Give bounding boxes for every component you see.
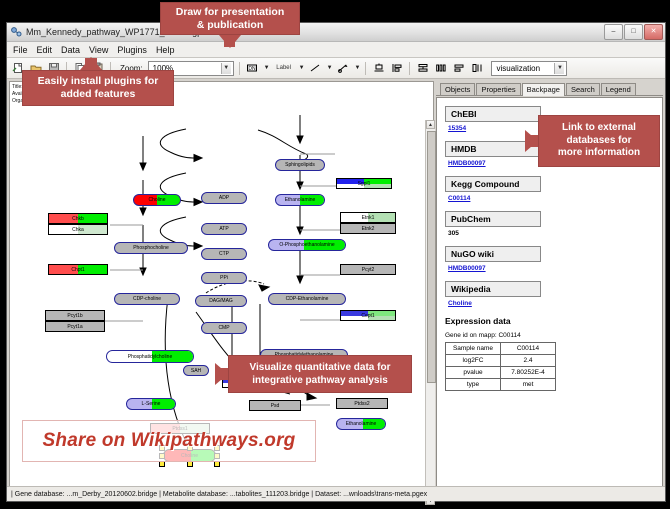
menu-item-file[interactable]: File xyxy=(13,45,28,55)
node-etnk2[interactable]: Etnk2 xyxy=(340,223,396,234)
label-icon[interactable]: Label xyxy=(273,61,295,76)
node-label: Pcyt2 xyxy=(362,267,375,273)
callout-external-links: Link to external databases for more info… xyxy=(538,115,660,167)
canvas-vertical-scrollbar[interactable]: ▲ ▼ xyxy=(425,120,435,505)
node-chkb[interactable]: Chkb xyxy=(48,213,108,224)
svg-text:DN: DN xyxy=(249,66,257,72)
callout-draw-presentation: Draw for presentation & publication xyxy=(160,2,300,35)
node-label: Phosphocholine xyxy=(133,245,169,251)
node-pcyt1b[interactable]: Pcyt1b xyxy=(45,310,105,321)
status-bar: | Gene database: ...m_Derby_20120602.bri… xyxy=(7,486,665,501)
node-label: Chka xyxy=(72,227,84,233)
node-label: Psd xyxy=(271,403,280,409)
common-width-icon[interactable] xyxy=(451,61,466,76)
window-controls: – □ ✕ xyxy=(604,24,663,40)
chevron-down-icon[interactable]: ▼ xyxy=(264,65,270,71)
node-label: Pcyt1a xyxy=(67,324,82,330)
align-icon[interactable] xyxy=(371,61,386,76)
scroll-up-arrow[interactable]: ▲ xyxy=(426,120,435,129)
node-ctp[interactable]: CTP xyxy=(201,248,247,260)
cell-value: C00114 xyxy=(501,343,556,355)
node-ethanolamine[interactable]: Ethanolamine xyxy=(275,194,325,206)
node-label: Ethanolamine xyxy=(285,197,316,203)
menu-item-help[interactable]: Help xyxy=(156,45,175,55)
visualization-value: visualization xyxy=(494,64,540,73)
scroll-thumb[interactable] xyxy=(427,131,436,383)
line-icon[interactable] xyxy=(308,61,323,76)
node-ppi[interactable]: PPi xyxy=(201,272,247,284)
stack-icon[interactable] xyxy=(415,61,430,76)
node-chka[interactable]: Chka xyxy=(48,224,108,235)
node-pcyt2[interactable]: Pcyt2 xyxy=(340,264,396,275)
pathvisio-icon xyxy=(10,26,22,38)
node-label: SAH xyxy=(191,368,201,374)
cell-key: type xyxy=(446,379,501,391)
common-height-icon[interactable] xyxy=(469,61,484,76)
interaction-icon[interactable] xyxy=(336,61,351,76)
cell-key: log2FC xyxy=(446,355,501,367)
node-label: Ethanolamine xyxy=(346,421,377,427)
menu-item-data[interactable]: Data xyxy=(61,45,80,55)
callout-arrow-right xyxy=(215,363,228,385)
callout-arrow-up xyxy=(80,57,102,70)
table-row: Sample name C00114 xyxy=(446,343,556,355)
node-sphingolipids[interactable]: Sphingolipids xyxy=(275,159,325,171)
node-label: O-Phosphoethanolamine xyxy=(279,242,334,248)
distribute-icon[interactable] xyxy=(433,61,448,76)
title-bar: Mm_Kennedy_pathway_WP1771_45176.gpml – □… xyxy=(7,23,665,42)
node-l-serine-left[interactable]: L-Serine xyxy=(126,398,176,410)
node-label: PPi xyxy=(220,275,228,281)
visualization-combobox[interactable]: visualization ▼ xyxy=(491,61,567,76)
maximize-button[interactable]: □ xyxy=(624,24,643,40)
side-panel-tabs: Objects Properties Backpage Search Legen… xyxy=(436,81,663,96)
section-header-pubchem: PubChem xyxy=(445,211,541,227)
node-label: CDP-Ethanolamine xyxy=(286,296,329,302)
node-label: CTP xyxy=(219,251,229,257)
section-header-nugo-wiki: NuGO wiki xyxy=(445,246,541,262)
pubchem-value: 305 xyxy=(448,230,654,237)
node-atp[interactable]: ATP xyxy=(201,223,247,235)
node-sah[interactable]: SAH xyxy=(183,365,209,376)
section-header-chebi: ChEBI xyxy=(445,106,541,122)
node-cdp-ethanolamine[interactable]: CDP-Ethanolamine xyxy=(268,293,346,305)
node-phosphocholine[interactable]: Phosphocholine xyxy=(114,242,188,254)
node-label: L-Serine xyxy=(142,401,161,407)
close-button[interactable]: ✕ xyxy=(644,24,663,40)
chevron-down-icon[interactable]: ▼ xyxy=(355,65,361,71)
node-adp[interactable]: ADP xyxy=(201,192,247,204)
node-chpt1[interactable]: Chpt1 xyxy=(48,264,108,275)
section-header-kegg: Kegg Compound xyxy=(445,176,541,192)
tab-properties[interactable]: Properties xyxy=(476,83,520,95)
minimize-button[interactable]: – xyxy=(604,24,623,40)
node-ethanolamine-lower[interactable]: Ethanolamine xyxy=(336,418,386,430)
callout-visualize-data: Visualize quantitative data for integrat… xyxy=(228,355,412,393)
nugo-link[interactable]: HMDB00097 xyxy=(448,265,654,272)
tab-objects[interactable]: Objects xyxy=(440,83,475,95)
cell-value: met xyxy=(501,379,556,391)
menu-bar: File Edit Data View Plugins Help xyxy=(7,42,665,58)
node-label: Sgpl1 xyxy=(358,181,371,187)
callout-arrow-down xyxy=(219,35,241,48)
node-label: Etnk1 xyxy=(362,215,375,221)
node-label: ADP xyxy=(219,195,229,201)
node-cmp[interactable]: CMP xyxy=(201,322,247,334)
tab-search[interactable]: Search xyxy=(566,83,600,95)
table-row: type met xyxy=(446,379,556,391)
node-label: Ptdss2 xyxy=(354,401,369,407)
cell-value: 2.4 xyxy=(501,355,556,367)
node-cdp-choline[interactable]: CDP-choline xyxy=(114,293,180,305)
chevron-down-icon[interactable]: ▼ xyxy=(554,63,564,74)
toolbar-separator xyxy=(365,62,366,75)
toolbar-separator xyxy=(239,62,240,75)
share-banner: Share on Wikipathways.org xyxy=(22,420,316,462)
table-row: pvalue 7.80252E-4 xyxy=(446,367,556,379)
menu-item-plugins[interactable]: Plugins xyxy=(117,45,147,55)
node-label: CDP-choline xyxy=(133,296,161,302)
node-label: Cept1 xyxy=(361,313,374,319)
node-label: Etnk2 xyxy=(362,226,375,232)
node-label: Pcyt1b xyxy=(67,313,82,319)
node-choline[interactable]: Choline xyxy=(133,194,181,206)
node-label: DAG/MAG xyxy=(209,298,233,304)
node-label: CMP xyxy=(218,325,229,331)
status-text: | Gene database: ...m_Derby_20120602.bri… xyxy=(7,491,427,498)
callout-install-plugins: Easily install plugins for added feature… xyxy=(22,70,174,106)
node-label: Chpt1 xyxy=(71,267,84,273)
node-phosphatidylcholine[interactable]: Phosphatidylcholine xyxy=(106,350,194,363)
kegg-link[interactable]: C00114 xyxy=(448,195,654,202)
node-etnk1[interactable]: Etnk1 xyxy=(340,212,396,223)
node-pcyt1a[interactable]: Pcyt1a xyxy=(45,321,105,332)
tab-backpage[interactable]: Backpage xyxy=(522,83,565,96)
node-label: Sphingolipids xyxy=(285,162,315,168)
menu-item-edit[interactable]: Edit xyxy=(37,45,53,55)
cell-value: 7.80252E-4 xyxy=(501,367,556,379)
toolbar-separator xyxy=(409,62,410,75)
node-cept1[interactable]: Cept1 xyxy=(340,310,396,321)
gene-id-on-mapp: Gene id on mapp: C00114 xyxy=(445,332,654,339)
section-header-wikipedia: Wikipedia xyxy=(445,281,541,297)
chevron-down-icon[interactable]: ▼ xyxy=(221,63,231,74)
expression-data-heading: Expression data xyxy=(445,316,654,326)
node-ptdss2[interactable]: Ptdss2 xyxy=(336,398,388,409)
node-psd[interactable]: Psd xyxy=(249,400,301,411)
expression-table: Sample name C00114 log2FC 2.4 pvalue 7.8… xyxy=(445,342,556,391)
table-row: log2FC 2.4 xyxy=(446,355,556,367)
node-label: Choline xyxy=(149,197,166,203)
node-label: ATP xyxy=(219,226,228,232)
tab-legend[interactable]: Legend xyxy=(601,83,636,95)
share-text: Share on Wikipathways.org xyxy=(43,430,296,452)
chevron-down-icon[interactable]: ▼ xyxy=(327,65,333,71)
node-dag-mag[interactable]: DAG/MAG xyxy=(195,295,247,307)
node-label: Phosphatidylcholine xyxy=(128,354,172,360)
datanode-icon[interactable]: DN xyxy=(245,61,260,76)
wikipedia-link[interactable]: Choline xyxy=(448,300,654,307)
align-left-icon[interactable] xyxy=(389,61,404,76)
callout-arrow-right xyxy=(525,130,538,152)
cell-key: Sample name xyxy=(446,343,501,355)
node-o-phosphoethanolamine[interactable]: O-Phosphoethanolamine xyxy=(268,239,346,251)
chevron-down-icon[interactable]: ▼ xyxy=(299,65,305,71)
node-sgpl1[interactable]: Sgpl1 xyxy=(336,178,392,189)
menu-item-view[interactable]: View xyxy=(89,45,108,55)
cell-key: pvalue xyxy=(446,367,501,379)
node-label: Chkb xyxy=(72,216,84,222)
